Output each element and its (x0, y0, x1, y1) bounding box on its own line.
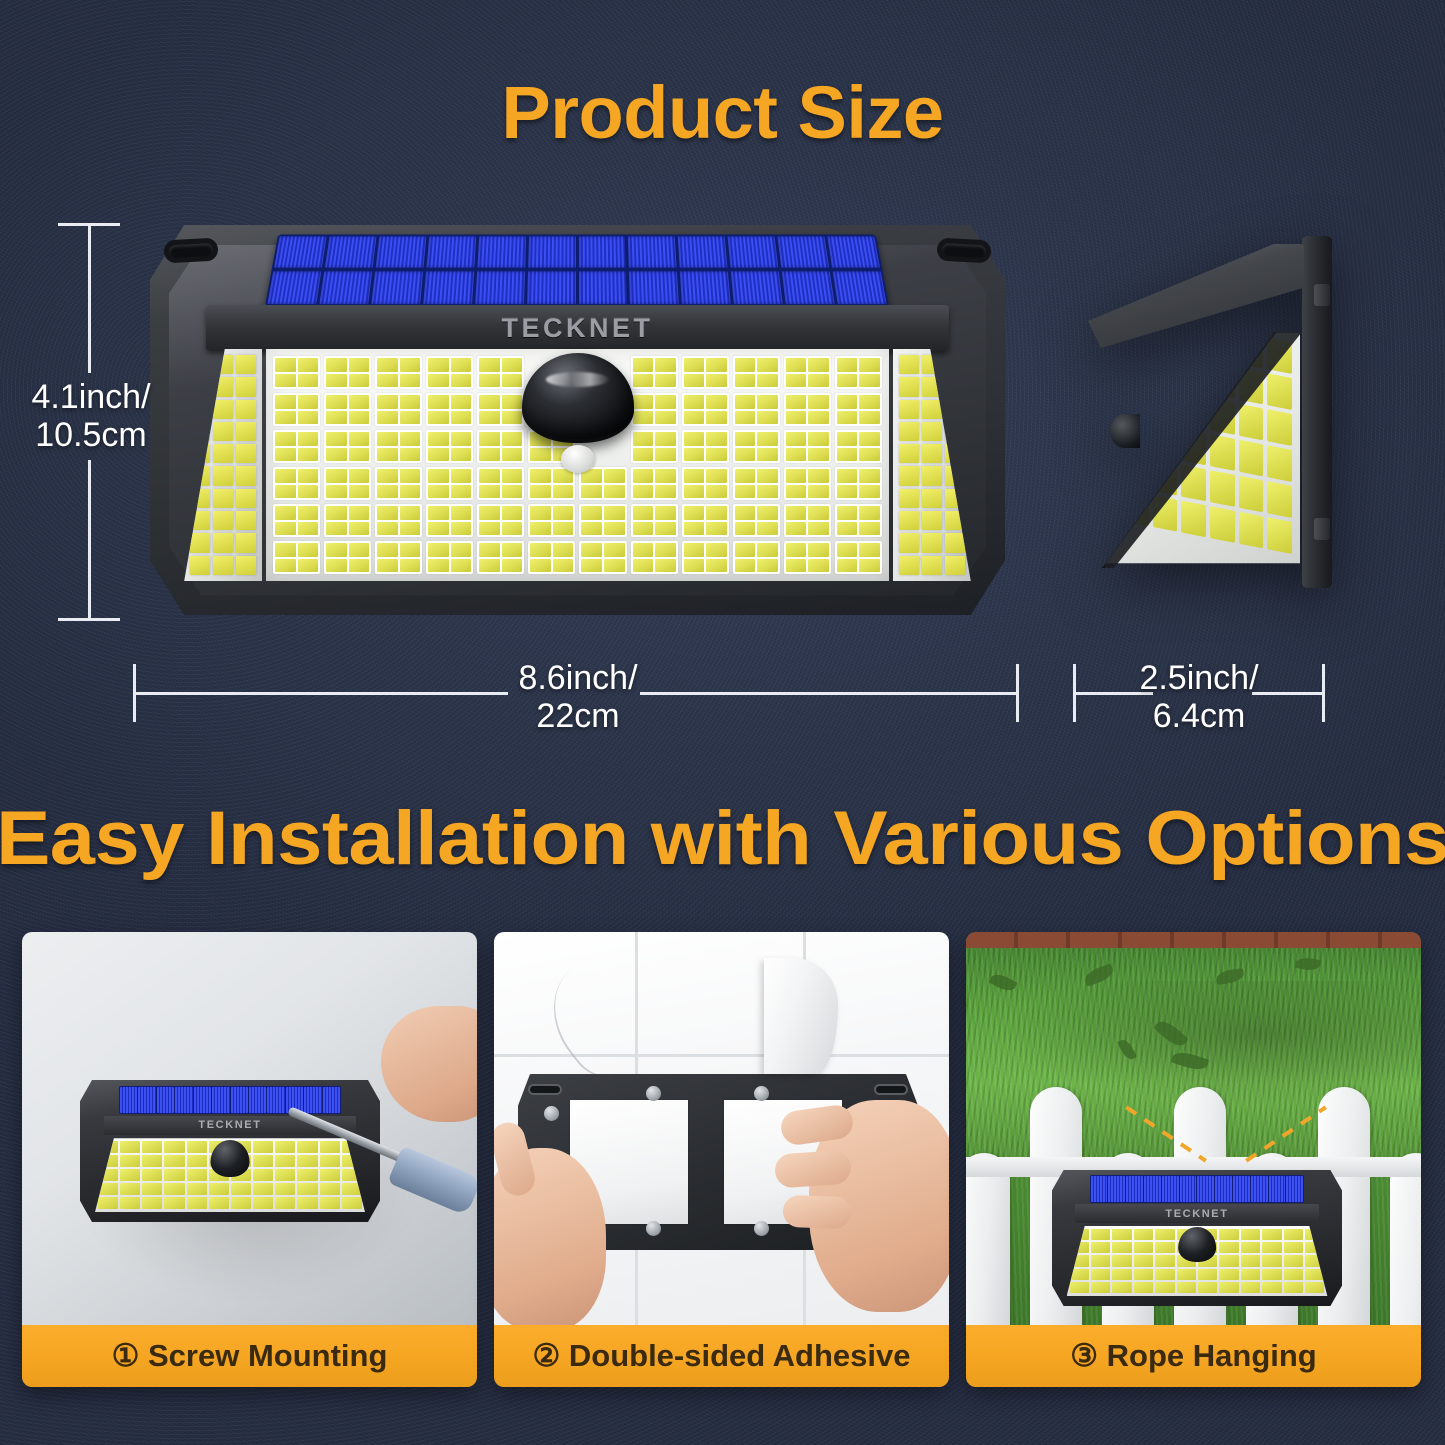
led-chip (581, 522, 602, 536)
led-chip (633, 411, 654, 425)
led-chip (786, 543, 807, 557)
led-cell (375, 504, 422, 537)
led-chip (757, 522, 778, 536)
led-chip (479, 506, 500, 520)
led-chip (377, 374, 398, 388)
solar-cell (527, 271, 576, 304)
led-chip (190, 377, 210, 396)
led-chip (1134, 1242, 1153, 1253)
led-chip (187, 1141, 207, 1153)
led-cell (273, 541, 320, 574)
led-chip (377, 559, 398, 573)
led-chip (786, 358, 807, 372)
led-chip (837, 506, 858, 520)
led-chip (326, 506, 347, 520)
led-chip (400, 358, 421, 372)
led-chip (428, 559, 449, 573)
solar-cell-column (268, 236, 327, 304)
led-chip (859, 469, 880, 483)
led-chip (757, 448, 778, 462)
led-chip (275, 432, 296, 446)
led-chip (164, 1169, 184, 1181)
led-chip (1219, 1282, 1238, 1293)
led-chip (581, 506, 602, 520)
led-chip (1112, 1255, 1131, 1266)
led-cell (631, 541, 678, 574)
led-chip (190, 489, 210, 508)
led-cell (784, 467, 831, 500)
led-chip (1267, 481, 1292, 518)
led-chip (859, 543, 880, 557)
led-chip (451, 506, 472, 520)
led-chip (428, 411, 449, 425)
led-chip (190, 400, 210, 419)
led-chip (786, 374, 807, 388)
led-chip (190, 556, 210, 575)
led-chip (837, 395, 858, 409)
led-chip (684, 522, 705, 536)
led-chip (1181, 392, 1206, 429)
led-chip (530, 559, 551, 573)
solar-cell (249, 1087, 266, 1113)
led-chip (786, 559, 807, 573)
led-cell (631, 467, 678, 500)
led-chip (400, 559, 421, 573)
led-chip (253, 1197, 273, 1209)
led-chip (530, 543, 551, 557)
screwdriver-icon (283, 1100, 477, 1220)
led-cell (682, 356, 729, 389)
led-chip (1091, 1269, 1110, 1280)
led-chip (213, 466, 233, 485)
led-chip (706, 522, 727, 536)
led-chip (349, 469, 370, 483)
led-chip (945, 489, 965, 508)
led-chip (655, 374, 676, 388)
lamp-back-plate (1302, 236, 1332, 588)
led-chip (479, 522, 500, 536)
led-chip (706, 432, 727, 446)
led-chip (502, 411, 523, 425)
led-chip (1124, 453, 1149, 490)
led-chip (142, 1183, 162, 1195)
led-chip (899, 489, 919, 508)
led-chip (1210, 506, 1235, 543)
led-chip (142, 1141, 162, 1153)
led-chip (706, 559, 727, 573)
led-chip (735, 411, 756, 425)
page-title-easy-installation: Easy Installation with Various Options (0, 795, 1445, 882)
led-chip (275, 395, 296, 409)
height-dimension-cap-bottom (58, 618, 120, 621)
led-chip (1155, 1229, 1174, 1240)
led-chip (479, 559, 500, 573)
led-cell (375, 541, 422, 574)
led-cell (733, 467, 780, 500)
led-chip (231, 1197, 251, 1209)
depth-dimension-label: 2.5inch/ 6.4cm (1103, 659, 1295, 735)
hanging-eyelet-right-icon (936, 238, 991, 264)
led-chip (808, 374, 829, 388)
solar-cell (1197, 1176, 1214, 1201)
install-option-card-2[interactable]: ② Double-sided Adhesive (494, 932, 949, 1387)
led-chip (298, 543, 319, 557)
solar-cell (630, 271, 680, 304)
led-chip (253, 1183, 273, 1195)
led-cell (273, 393, 320, 426)
led-chip (275, 469, 296, 483)
led-chip (1155, 1255, 1174, 1266)
led-cell (528, 541, 575, 574)
led-cell (784, 504, 831, 537)
bracket-hanging-slot (874, 1084, 908, 1095)
caption-bar-1: ① Screw Mounting (22, 1325, 477, 1387)
solar-cell (325, 236, 377, 267)
infographic-page: Product Size 4.1inch/ 10.5cm 8.6inch/ 22… (0, 0, 1445, 1445)
led-cell (426, 467, 473, 500)
brand-logo-text-photo3: TECKNET (1075, 1204, 1319, 1223)
led-cell (784, 356, 831, 389)
solar-cell-column (828, 236, 887, 304)
led-chip (859, 506, 880, 520)
led-chip (349, 395, 370, 409)
led-chip (757, 559, 778, 573)
led-chip (899, 466, 919, 485)
led-chip (236, 355, 256, 374)
led-chip (655, 411, 676, 425)
led-chip (786, 432, 807, 446)
led-cell (579, 467, 626, 500)
led-chip (633, 395, 654, 409)
led-chip (945, 533, 965, 552)
led-chip (1181, 500, 1206, 537)
led-chip (859, 432, 880, 446)
led-chip (808, 559, 829, 573)
led-chip (786, 506, 807, 520)
solar-cell (681, 271, 732, 304)
led-chip (922, 489, 942, 508)
led-chip (655, 522, 676, 536)
led-chip (899, 444, 919, 463)
led-chip (1134, 1269, 1153, 1280)
led-cell (477, 504, 524, 537)
led-chip (164, 1197, 184, 1209)
led-chip (1239, 404, 1264, 441)
led-chip (349, 543, 370, 557)
led-chip (1241, 1282, 1260, 1293)
side-view-sensor-icon (1110, 414, 1140, 448)
led-chip (479, 448, 500, 462)
led-chip (1112, 1269, 1131, 1280)
solar-cell (678, 236, 728, 267)
led-chip (253, 1155, 273, 1167)
led-chip (945, 377, 965, 396)
led-chip (377, 432, 398, 446)
led-chip (1153, 423, 1178, 460)
solar-cell (629, 236, 678, 267)
led-cell (733, 430, 780, 463)
solar-cell (728, 236, 779, 267)
led-chip (530, 522, 551, 536)
led-chip (428, 469, 449, 483)
led-cell (375, 430, 422, 463)
solar-cell (120, 1087, 137, 1113)
led-chip (1124, 381, 1149, 418)
led-chip (120, 1169, 140, 1181)
led-chip (633, 358, 654, 372)
led-chip (1267, 409, 1292, 446)
led-chip (479, 411, 500, 425)
solar-cell (1108, 1176, 1125, 1201)
led-cell (426, 541, 473, 574)
lamp-top-solar-housing (1088, 244, 1304, 348)
install-photo-screw-mounting: TECKNET (22, 932, 477, 1325)
led-chip (400, 432, 421, 446)
led-chip (553, 559, 574, 573)
led-chip (428, 395, 449, 409)
led-chip (1239, 512, 1264, 549)
led-cell (324, 393, 371, 426)
led-chip (757, 506, 778, 520)
caption-label-3: ③ Rope Hanging (1070, 1338, 1317, 1374)
led-chip (1241, 1255, 1260, 1266)
led-chip (120, 1197, 140, 1209)
led-chip (377, 485, 398, 499)
led-chip (706, 543, 727, 557)
led-chip (428, 358, 449, 372)
led-chip (1219, 1242, 1238, 1253)
led-chip (757, 358, 778, 372)
led-chip (1241, 1242, 1260, 1253)
led-chip (1134, 1255, 1153, 1266)
led-chip (604, 506, 625, 520)
led-chip (1284, 1255, 1303, 1266)
led-chip (502, 448, 523, 462)
led-chip (837, 522, 858, 536)
led-chip (326, 485, 347, 499)
led-chip (1198, 1282, 1217, 1293)
solar-cell (579, 236, 627, 267)
led-chip (326, 374, 347, 388)
led-cell (733, 541, 780, 574)
led-chip (735, 543, 756, 557)
led-chip (837, 411, 858, 425)
led-chip (451, 374, 472, 388)
led-chip (1262, 1242, 1281, 1253)
led-chip (236, 533, 256, 552)
led-cell (733, 504, 780, 537)
led-chip (757, 485, 778, 499)
led-chip (451, 522, 472, 536)
led-chip (786, 522, 807, 536)
solar-cell (1180, 1176, 1197, 1201)
led-chip (945, 511, 965, 530)
led-chip (275, 543, 296, 557)
led-chip (604, 485, 625, 499)
led-chip (190, 511, 210, 530)
led-chip (1134, 1282, 1153, 1293)
led-chip (706, 374, 727, 388)
led-chip (735, 432, 756, 446)
led-chip (400, 543, 421, 557)
led-cell (682, 467, 729, 500)
led-cell (426, 504, 473, 537)
led-chip (326, 432, 347, 446)
led-chip (1181, 356, 1206, 393)
led-chip (899, 533, 919, 552)
led-chip (553, 506, 574, 520)
led-chip (945, 400, 965, 419)
led-chip (1124, 345, 1149, 382)
led-chip (684, 506, 705, 520)
led-chip (1241, 1229, 1260, 1240)
led-chip (1305, 1282, 1324, 1293)
led-chip (1267, 517, 1292, 554)
led-chip (236, 556, 256, 575)
led-chip (502, 506, 523, 520)
led-chip (1070, 1282, 1089, 1293)
led-chip (451, 448, 472, 462)
led-chip (502, 358, 523, 372)
brand-logo-text: TECKNET (501, 313, 653, 344)
led-chip (735, 469, 756, 483)
led-chip (1155, 1282, 1174, 1293)
led-chip (428, 485, 449, 499)
led-chip (808, 485, 829, 499)
solar-cell (427, 236, 477, 267)
led-side-wing-right (893, 349, 971, 581)
bracket-hanging-slot (528, 1084, 562, 1095)
solar-cell-column (728, 236, 783, 304)
led-chip (899, 511, 919, 530)
led-chip (1262, 1269, 1281, 1280)
led-chip (757, 374, 778, 388)
led-chip (1155, 1269, 1174, 1280)
fence-picket (966, 1153, 1010, 1325)
led-chip (236, 489, 256, 508)
led-chip (400, 522, 421, 536)
led-chip (859, 395, 880, 409)
led-chip (1241, 1269, 1260, 1280)
led-cell (477, 541, 524, 574)
led-chip (604, 543, 625, 557)
led-chip (142, 1155, 162, 1167)
led-chip (581, 559, 602, 573)
led-chip (275, 485, 296, 499)
led-chip (1112, 1242, 1131, 1253)
led-chip (298, 395, 319, 409)
led-chip (502, 485, 523, 499)
led-cell (477, 467, 524, 500)
led-chip (213, 511, 233, 530)
led-chip (808, 448, 829, 462)
led-chip (899, 377, 919, 396)
led-chip (899, 556, 919, 575)
hand-right-peeling-backing (809, 1100, 949, 1312)
led-chip (684, 559, 705, 573)
bracket-screw-hole (646, 1086, 661, 1101)
led-cell (579, 541, 626, 574)
led-chip (213, 355, 233, 374)
solar-cell (477, 236, 526, 267)
led-chip (400, 506, 421, 520)
install-option-card-3[interactable]: TECKNET ③ Rope Hanging (966, 932, 1421, 1387)
solar-cell (194, 1087, 211, 1113)
led-cell (784, 541, 831, 574)
install-option-card-1[interactable]: TECKNET ① Screw Mounting (22, 932, 477, 1387)
led-chip (451, 395, 472, 409)
led-cell (835, 541, 882, 574)
led-chip (945, 355, 965, 374)
brick-garden-edging (966, 932, 1421, 948)
led-cell (631, 430, 678, 463)
solar-cell (138, 1087, 155, 1113)
width-dimension-line-right (640, 692, 1017, 695)
solar-cell (423, 271, 474, 304)
solar-cell (376, 236, 427, 267)
page-title-product-size: Product Size (0, 70, 1445, 155)
led-chip (428, 522, 449, 536)
led-chip (808, 411, 829, 425)
led-chip (655, 432, 676, 446)
led-chip (236, 422, 256, 441)
led-chip (349, 448, 370, 462)
led-chip (808, 543, 829, 557)
led-chip (859, 411, 880, 425)
led-chip (899, 400, 919, 419)
led-chip (298, 448, 319, 462)
led-chip (190, 444, 210, 463)
led-chip (922, 444, 942, 463)
led-cell (784, 393, 831, 426)
led-chip (1219, 1269, 1238, 1280)
led-chip (706, 469, 727, 483)
led-chip (120, 1183, 140, 1195)
led-chip (1177, 1269, 1196, 1280)
led-chip (1153, 387, 1178, 424)
led-chip (400, 395, 421, 409)
led-chip (502, 395, 523, 409)
led-chip (190, 422, 210, 441)
led-cell (324, 467, 371, 500)
bracket-screw-hole (754, 1086, 769, 1101)
led-chip (451, 543, 472, 557)
led-chip (633, 448, 654, 462)
led-chip (684, 358, 705, 372)
led-chip (1284, 1269, 1303, 1280)
led-chip (633, 559, 654, 573)
led-chip (808, 469, 829, 483)
solar-cell (1251, 1176, 1268, 1201)
led-chip (275, 448, 296, 462)
solar-cell-column (778, 236, 835, 304)
led-chip (451, 485, 472, 499)
width-dimension-label: 8.6inch/ 22cm (478, 659, 678, 735)
led-chip (349, 432, 370, 446)
led-cell (324, 356, 371, 389)
led-chip (786, 411, 807, 425)
led-chip (451, 411, 472, 425)
led-chip (326, 543, 347, 557)
led-chip (655, 543, 676, 557)
led-chip (837, 374, 858, 388)
led-chip (786, 485, 807, 499)
led-chip (684, 448, 705, 462)
led-chip (377, 448, 398, 462)
led-cell (682, 393, 729, 426)
solar-cell (157, 1087, 174, 1113)
led-chip (684, 469, 705, 483)
